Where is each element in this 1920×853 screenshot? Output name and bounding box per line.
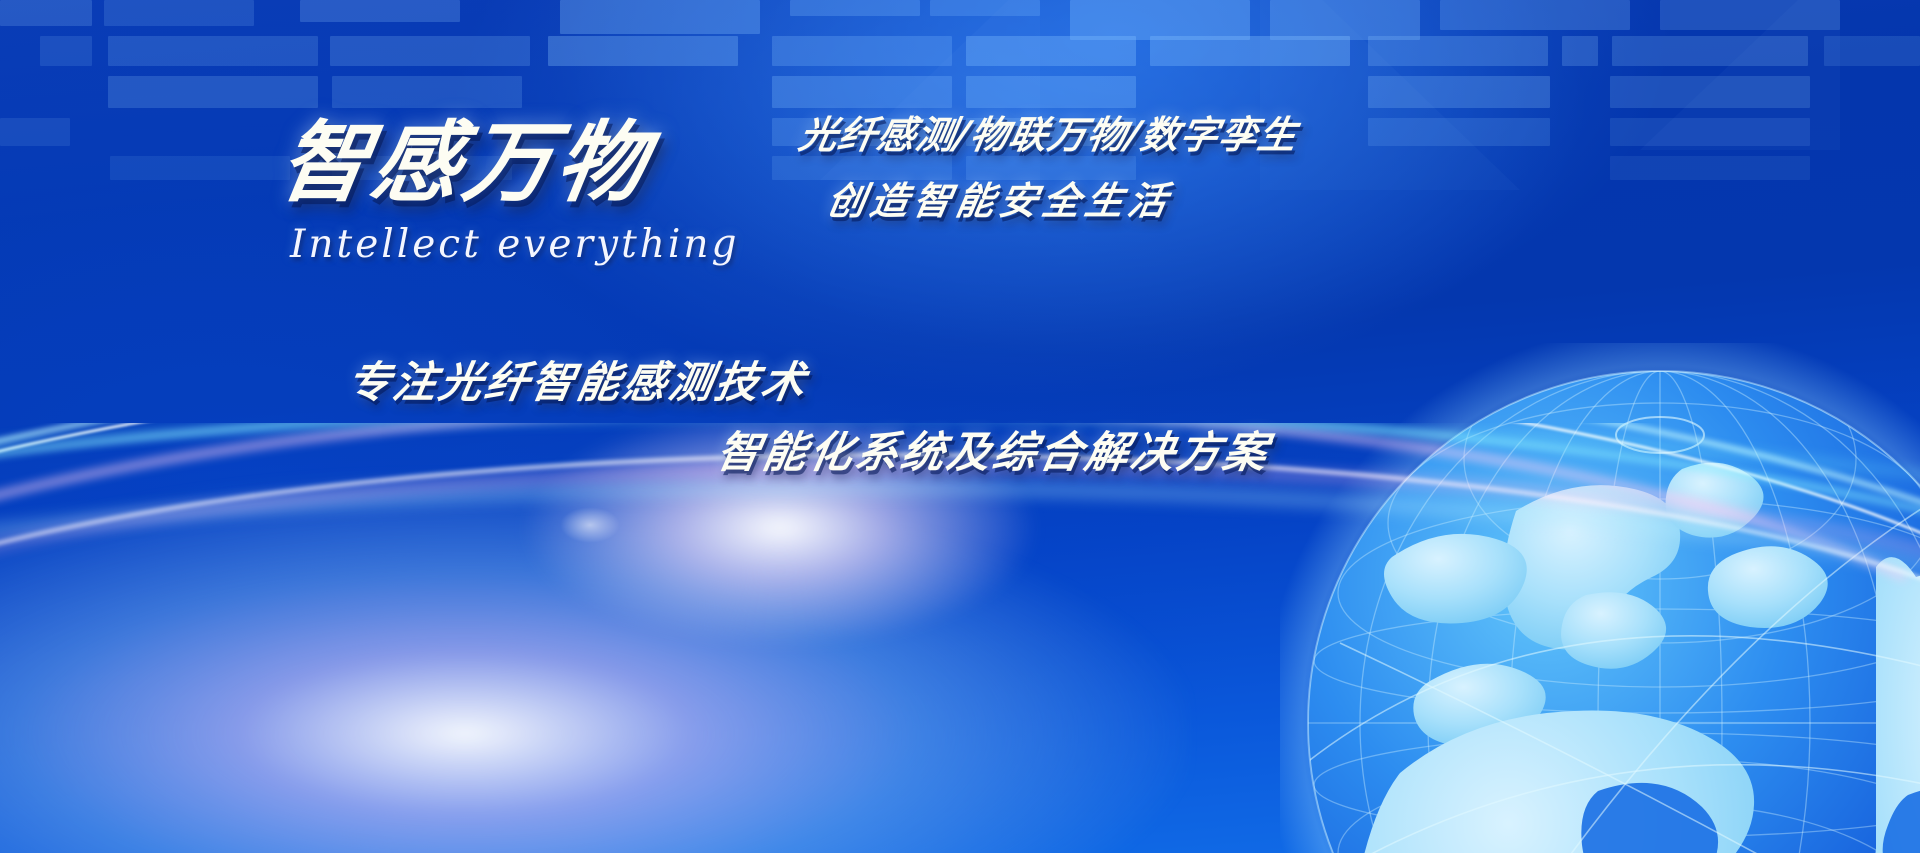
mosaic-block <box>108 36 318 66</box>
mosaic-block <box>40 36 92 66</box>
mosaic-block <box>1070 0 1250 40</box>
mosaic-block <box>0 0 92 26</box>
decorative-triangle-right <box>1260 0 1520 190</box>
mosaic-block <box>0 118 70 146</box>
mosaic-block <box>104 0 254 26</box>
page-subtitle-english: Intellect everything <box>290 222 739 267</box>
focus-statement-line-2: 智能化系统及综合解决方案 <box>713 418 1276 480</box>
mosaic-block <box>330 36 530 66</box>
mosaic-block <box>1562 36 1598 66</box>
decorative-triangle-far-right <box>1640 0 1840 150</box>
page-title: 智感万物 <box>272 92 660 219</box>
slogan-line-1: 光纤感测/物联万物/数字孪生 <box>795 104 1302 159</box>
mosaic-block <box>560 0 760 34</box>
light-ribbon-sweep <box>0 423 1920 853</box>
mosaic-block <box>300 0 460 22</box>
mosaic-block <box>1610 156 1810 180</box>
mosaic-block <box>110 156 290 180</box>
banner-root: 智感万物 Intellect everything 光纤感测/物联万物/数字孪生… <box>0 0 1920 853</box>
focus-statement-line-1: 专注光纤智能感测技术 <box>343 348 814 410</box>
mosaic-block <box>108 76 318 108</box>
slogan-line-2: 创造智能安全生活 <box>823 170 1177 225</box>
mosaic-block <box>548 36 738 66</box>
